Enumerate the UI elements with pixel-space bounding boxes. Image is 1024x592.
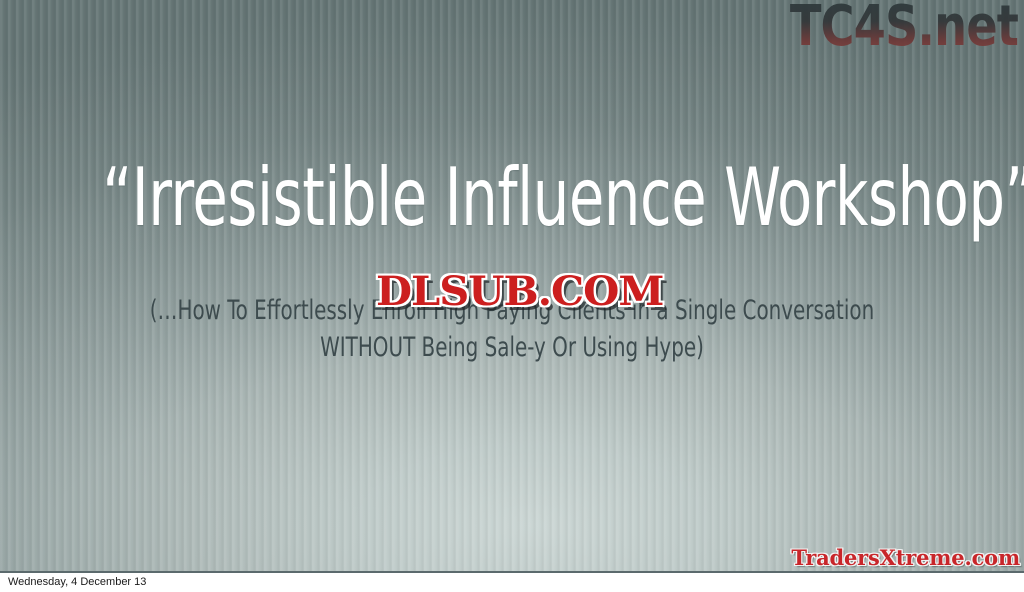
subtitle-line-2: WITHOUT Being Sale-y Or Using Hype) bbox=[92, 329, 932, 366]
slide-footer: Wednesday, 4 December 13 bbox=[0, 573, 1024, 592]
title-block: “Irresistible Influence Workshop” bbox=[0, 158, 1024, 238]
slide-title: “Irresistible Influence Workshop” bbox=[102, 158, 921, 238]
slide-canvas: TC4S.net “Irresistible Influence Worksho… bbox=[0, 0, 1024, 573]
watermark-tradersxtreme: TradersXtreme.com bbox=[791, 545, 1020, 570]
slide-root: TC4S.net “Irresistible Influence Worksho… bbox=[0, 0, 1024, 592]
watermark-dlsub: DLSUB.COM bbox=[376, 268, 663, 315]
watermark-tc4s: TC4S.net bbox=[790, 0, 1018, 59]
footer-date-label: Wednesday, 4 December 13 bbox=[8, 576, 146, 588]
